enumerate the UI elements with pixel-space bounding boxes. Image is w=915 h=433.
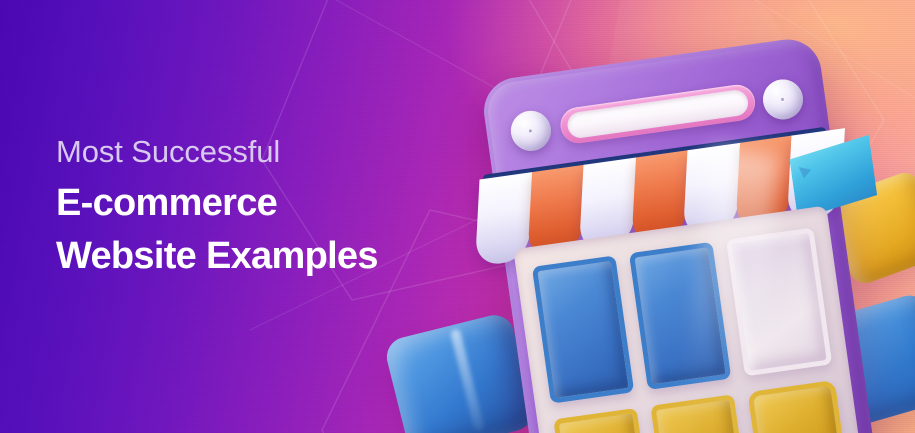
headline-block: Most Successful E-commerce Website Examp… — [56, 133, 378, 283]
menu-icon-glyph: · — [760, 77, 805, 122]
product-tile[interactable] — [532, 255, 634, 404]
search-input-field[interactable] — [566, 88, 750, 139]
headline-line-2: E-commerce — [56, 177, 378, 230]
headline-line-1: Most Successful — [56, 133, 378, 172]
product-tile[interactable] — [553, 408, 651, 433]
product-tile[interactable] — [629, 242, 731, 391]
promo-banner: Most Successful E-commerce Website Examp… — [0, 0, 915, 433]
product-tile[interactable] — [726, 228, 833, 377]
product-tile[interactable] — [650, 395, 748, 433]
storefront-device: · · — [480, 35, 877, 433]
user-icon[interactable]: · — [508, 108, 553, 153]
user-icon-glyph: · — [508, 108, 553, 153]
product-tile[interactable] — [747, 380, 849, 433]
headline-line-3: Website Examples — [56, 230, 378, 283]
menu-icon[interactable]: · — [760, 77, 805, 122]
illustration-stage: · · — [390, 0, 915, 433]
